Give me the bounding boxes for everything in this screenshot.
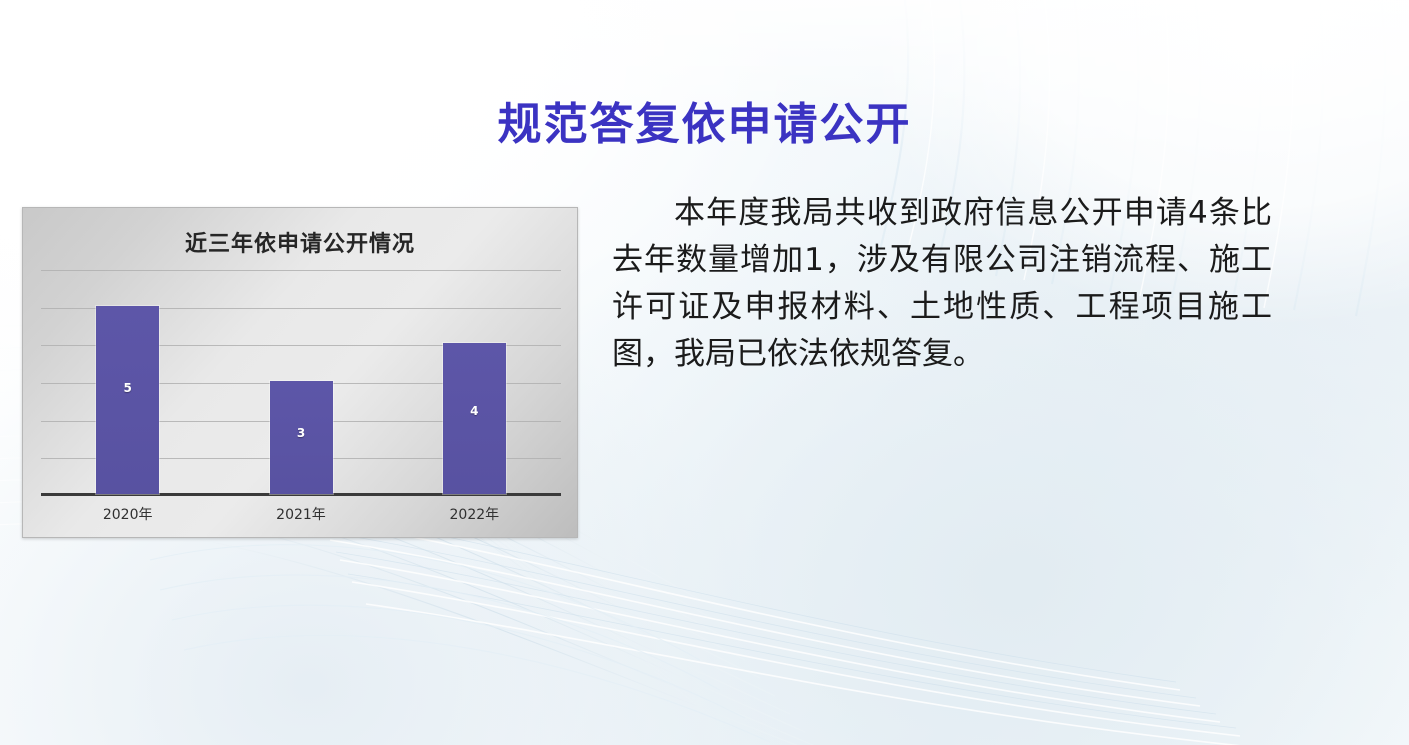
body-paragraph: 本年度我局共收到政府信息公开申请4条比去年数量增加1，涉及有限公司注销流程、施工…: [612, 190, 1272, 378]
chart-category-label: 2022年: [388, 504, 561, 524]
chart-bar: 3: [270, 381, 333, 494]
chart-gridline: [41, 270, 561, 271]
chart-bar-value-label: 4: [443, 404, 506, 418]
chart-bar: 5: [96, 306, 159, 494]
page-title: 规范答复依申请公开: [0, 88, 1409, 152]
chart-title: 近三年依申请公开情况: [23, 226, 577, 258]
chart-plot-area: 534: [41, 270, 561, 496]
chart-category-label: 2020年: [41, 504, 214, 524]
chart-bar-value-label: 3: [270, 426, 333, 440]
presentation-slide: 规范答复依申请公开 本年度我局共收到政府信息公开申请4条比去年数量增加1，涉及有…: [0, 0, 1409, 745]
chart-bar-value-label: 5: [96, 381, 159, 395]
chart-category-label: 2021年: [214, 504, 387, 524]
bar-chart: 近三年依申请公开情况 534 2020年2021年2022年: [22, 207, 578, 538]
chart-bar: 4: [443, 343, 506, 494]
